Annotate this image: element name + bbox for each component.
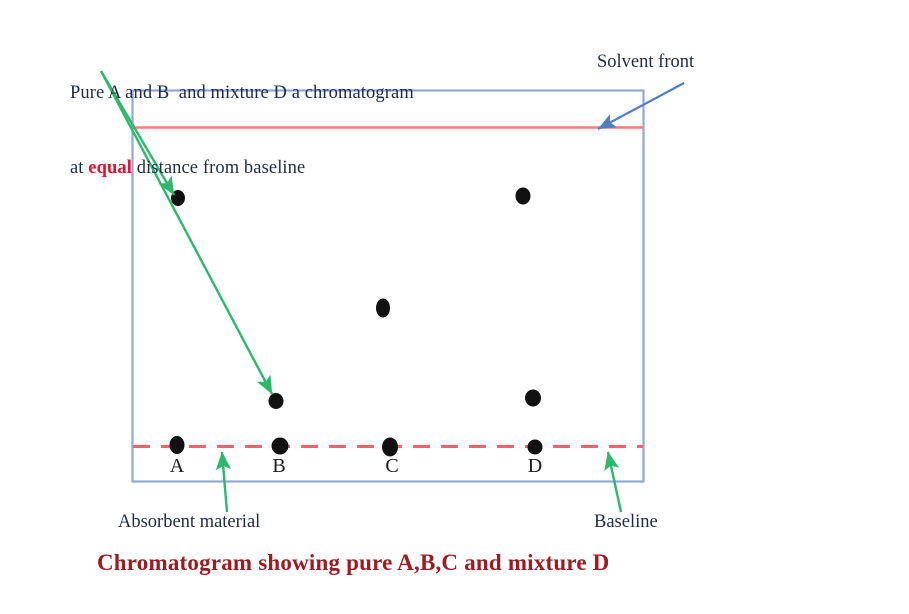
callout-arrow-solvent-front — [598, 83, 684, 129]
spot-group-origin — [170, 436, 543, 457]
annotation-line-2: at equal distance from baseline — [70, 156, 414, 181]
spot-b-developed — [269, 393, 284, 409]
annotation-line-2-prefix: at — [70, 158, 88, 178]
lane-label-a: A — [157, 455, 197, 478]
chromatogram-diagram: Pure A and B and mixture D a chromatogra… — [0, 0, 909, 614]
spot-a-origin — [170, 436, 185, 454]
spot-c-developed — [376, 299, 390, 318]
label-solvent-front: Solvent front — [597, 52, 694, 73]
annotation-line-1: Pure A and B and mixture D a chromatogra… — [70, 81, 414, 106]
lane-label-c: C — [372, 455, 412, 478]
callout-arrow-absorbent-material — [222, 452, 227, 512]
spot-d-developed-upper — [516, 188, 531, 205]
lane-label-b: B — [259, 455, 299, 478]
lane-label-d: D — [515, 455, 555, 478]
spot-d-developed-lower — [525, 390, 541, 407]
annotation-line-2-suffix: distance from baseline — [132, 158, 305, 178]
label-baseline: Baseline — [594, 512, 658, 533]
spot-c-origin — [382, 438, 398, 457]
annotation-equal-distance: Pure A and B and mixture D a chromatogra… — [70, 31, 414, 231]
callout-arrow-baseline — [608, 452, 621, 512]
spot-d-origin — [528, 440, 543, 455]
label-absorbent-material: Absorbent material — [118, 512, 260, 533]
annotation-highlight-equal: equal — [88, 158, 132, 178]
spot-b-origin — [272, 438, 289, 455]
diagram-caption: Chromatogram showing pure A,B,C and mixt… — [97, 550, 609, 576]
